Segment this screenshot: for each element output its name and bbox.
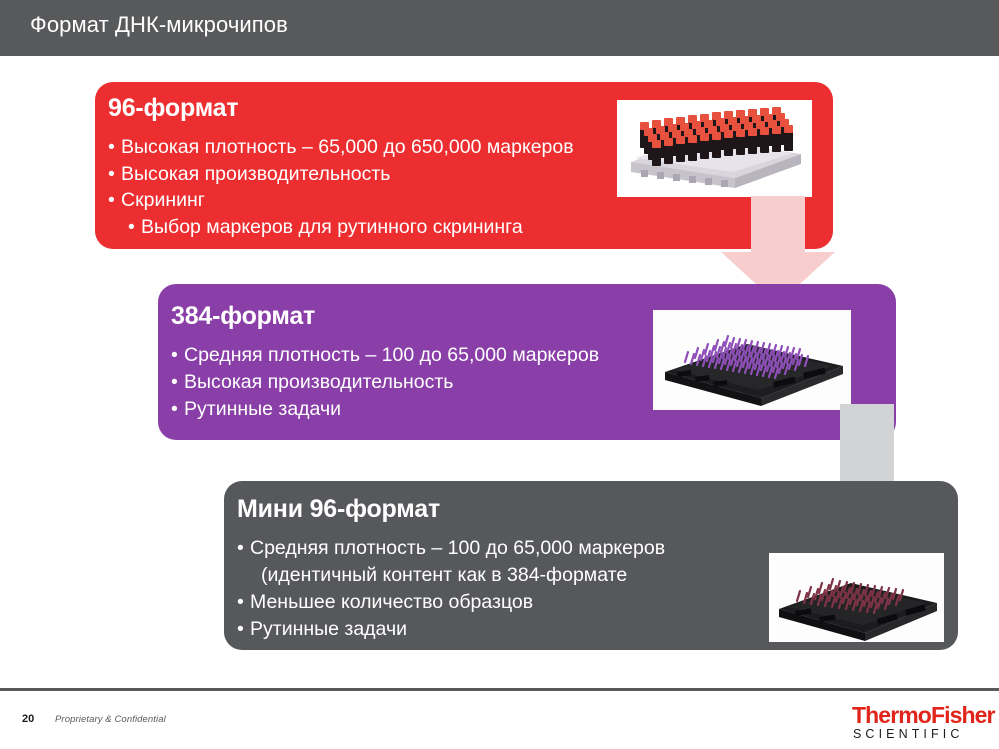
bullet-dot-icon: •: [171, 369, 178, 396]
list-item-sub: •Выбор маркеров для рутинного скрининга: [108, 214, 574, 241]
thermo-fisher-logo: ThermoFisher SCIENTIFIC: [852, 702, 988, 742]
plate-96-icon: [617, 100, 812, 197]
list-item: •Средняя плотность – 100 до 65,000 марке…: [171, 342, 599, 369]
card-96-format-bullets: •Высокая плотность – 65,000 до 650,000 м…: [108, 134, 574, 240]
slide-header: Формат ДНК-микрочипов: [0, 0, 999, 56]
list-item: •Скрининг: [108, 187, 574, 214]
list-item: •Рутинные задачи: [237, 616, 665, 643]
list-item: •Рутинные задачи: [171, 396, 599, 423]
bullet-dot-icon: •: [108, 187, 115, 214]
card-96-format-title: 96-формат: [108, 94, 238, 123]
list-item: •Высокая производительность: [171, 369, 599, 396]
plate-mini96-icon: [769, 553, 944, 642]
card-mini-96-format-bullets: •Средняя плотность – 100 до 65,000 марке…: [237, 535, 665, 643]
photo-mini-96-plate: [769, 553, 944, 642]
logo-wordmark: ThermoFisher: [852, 702, 995, 729]
list-item: •Высокая плотность – 65,000 до 650,000 м…: [108, 134, 574, 161]
bullet-dot-icon: •: [237, 535, 244, 562]
bullet-dot-icon: •: [108, 134, 115, 161]
bullet-dot-icon: •: [108, 161, 115, 188]
list-item: •Меньшее количество образцов: [237, 589, 665, 616]
bullet-dot-icon: •: [171, 396, 178, 423]
list-item-continuation: (идентичный контент как в 384-формате: [237, 562, 665, 589]
card-mini-96-format-title: Мини 96-формат: [237, 495, 440, 524]
card-384-format-bullets: •Средняя плотность – 100 до 65,000 марке…: [171, 342, 599, 423]
footer-divider: [0, 688, 999, 691]
page-number: 20: [22, 713, 34, 725]
bullet-dot-icon: •: [237, 616, 244, 643]
list-item: •Средняя плотность – 100 до 65,000 марке…: [237, 535, 665, 562]
bullet-dot-icon: •: [128, 214, 135, 241]
plate-384-icon: [653, 310, 851, 410]
bullet-dot-icon: •: [171, 342, 178, 369]
list-item: •Высокая производительность: [108, 161, 574, 188]
photo-96-well-plate: [617, 100, 812, 197]
bullet-dot-icon: •: [237, 589, 244, 616]
photo-384-well-plate: [653, 310, 851, 410]
page-title: Формат ДНК-микрочипов: [30, 12, 288, 38]
logo-tagline: SCIENTIFIC: [853, 727, 963, 741]
card-384-format-title: 384-формат: [171, 302, 315, 331]
confidentiality-notice: Proprietary & Confidential: [55, 714, 166, 725]
